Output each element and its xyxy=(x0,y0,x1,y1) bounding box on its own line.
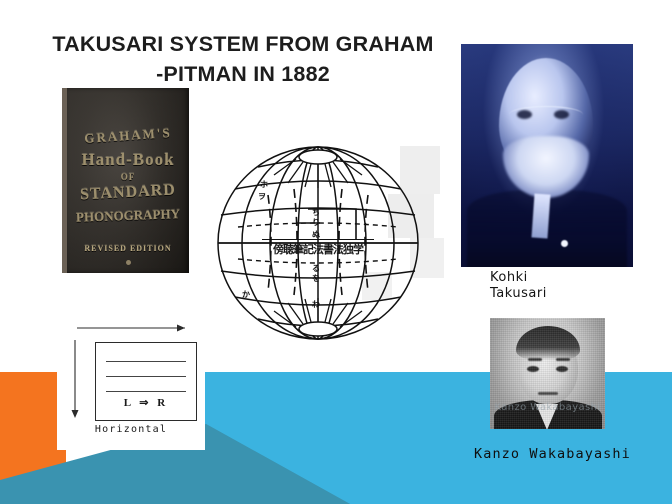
top-to-bottom-arrowhead xyxy=(72,410,79,418)
portrait-kohki-lapel-pin xyxy=(561,240,568,247)
globe-tick-2: ヲ xyxy=(258,191,266,202)
page-title-line2: -PITMAN IN 1882 xyxy=(156,62,330,86)
writing-rule-3 xyxy=(106,391,186,392)
book-edition-label: REVISED EDITION xyxy=(67,244,189,253)
caption-kanzo-wakabayashi: Kanzo Wakabayashi xyxy=(474,446,631,462)
book-title-line-2: Hand-Book xyxy=(67,150,189,170)
portrait-kohki-takusari xyxy=(461,44,633,267)
globe-grid-diagram: 傍聴筆記法書法独学 ホ ヲ ち り ぬ る を わ か xyxy=(208,143,428,343)
globe-tick-4: り xyxy=(312,217,320,228)
caption-kohki-line1: Kohki xyxy=(490,270,547,286)
globe-tick-5: ぬ xyxy=(312,229,320,240)
portrait-kanzo-wakabayashi: Kanzo Wakabayashi xyxy=(490,318,605,429)
horizontal-writing-diagram: L ⇒ R Horizontal xyxy=(57,316,205,450)
portrait-kanzo-mouth xyxy=(538,392,558,395)
portrait-kanzo-watermark: Kanzo Wakabayashi xyxy=(490,402,605,413)
book-cover-image: GRAHAM'S Hand-Book OF STANDARD PHONOGRAP… xyxy=(62,88,189,273)
globe-tick-7: を xyxy=(312,273,320,284)
portrait-kanzo-brow-right xyxy=(556,358,570,361)
portrait-kanzo-eye-right xyxy=(556,366,568,372)
slide-canvas: TAKUSARI SYSTEM FROM GRAHAM -PITMAN IN 1… xyxy=(0,0,672,504)
writing-rule-1 xyxy=(106,361,186,362)
book-title-line-5: PHONOGRAPHY xyxy=(67,206,189,226)
portrait-kanzo-eye-left xyxy=(527,366,539,372)
globe-caption: 傍聴筆記法書法独学 xyxy=(208,241,428,257)
portrait-kohki-collar xyxy=(531,193,550,238)
portrait-kanzo-hair xyxy=(516,326,580,360)
writing-rule-2 xyxy=(106,376,186,377)
book-title-line-3: OF xyxy=(67,172,189,182)
writing-frame: L ⇒ R xyxy=(95,342,197,421)
caption-kohki-takusari: Kohki Takusari xyxy=(490,270,547,302)
portrait-kohki-glasses xyxy=(509,106,583,123)
book-title-line-4: STANDARD xyxy=(67,181,189,205)
globe-tick-1: ホ xyxy=(260,179,268,190)
portrait-kohki-beard xyxy=(503,136,589,198)
portrait-kanzo-brow-left xyxy=(528,358,542,361)
caption-kohki-line2: Takusari xyxy=(490,286,547,302)
page-title-line1: TAKUSARI SYSTEM FROM GRAHAM xyxy=(52,32,433,56)
writing-direction-label: L ⇒ R xyxy=(96,396,196,409)
horizontal-diagram-caption: Horizontal xyxy=(57,424,205,435)
left-to-right-arrowhead xyxy=(177,325,185,332)
globe-tick-8: わ xyxy=(312,299,320,310)
book-title-line-1: GRAHAM'S xyxy=(67,124,189,148)
page-title: TAKUSARI SYSTEM FROM GRAHAM -PITMAN IN 1… xyxy=(28,30,458,89)
globe-tick-9: か xyxy=(242,289,250,300)
book-ornament-dot xyxy=(126,260,131,265)
